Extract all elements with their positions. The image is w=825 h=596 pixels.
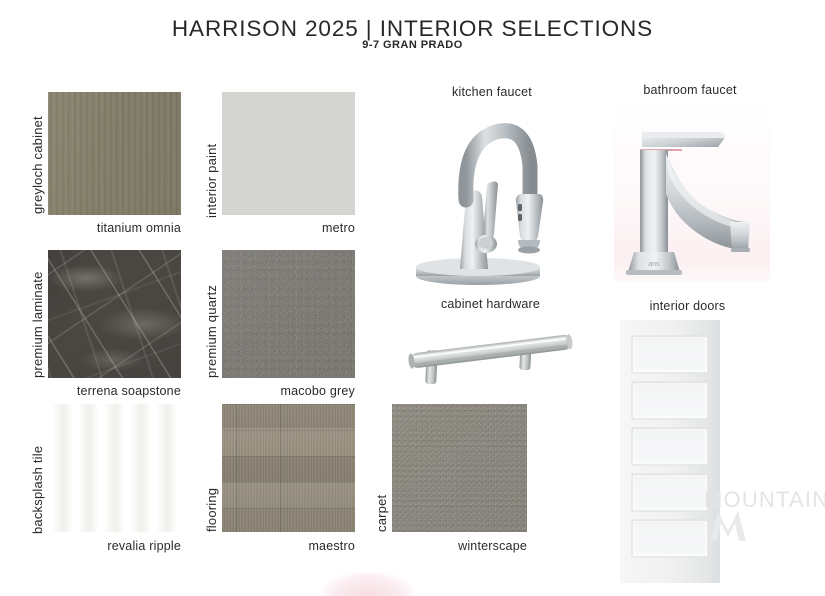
category-label-greyloch-cabinet: greyloch cabinet <box>31 104 44 214</box>
category-label-carpet: carpet <box>375 474 388 532</box>
bathroom-faucet-image[interactable]: aris <box>614 102 770 282</box>
selection-backsplash-tile[interactable]: backsplash tile revalia ripple <box>48 404 181 554</box>
bar-pull-icon <box>398 320 583 392</box>
swatch-backsplash-tile[interactable] <box>48 404 181 532</box>
product-label-backsplash-tile: revalia ripple <box>107 540 181 553</box>
product-label-premium-quartz: macobo grey <box>281 385 355 398</box>
selection-interior-paint[interactable]: interior paint metro <box>222 92 355 237</box>
cabinet-hardware-image[interactable] <box>398 320 583 392</box>
svg-text:aris: aris <box>648 261 660 268</box>
category-label-backsplash-tile: backsplash tile <box>31 414 44 534</box>
category-label-flooring: flooring <box>205 462 218 532</box>
interior-door-image[interactable] <box>620 320 720 583</box>
swatch-premium-quartz[interactable] <box>222 250 355 378</box>
bathroom-faucet-icon: aris <box>614 102 770 282</box>
fixture-label-cabinet-hardware: cabinet hardware <box>398 298 583 311</box>
selection-bathroom-faucet[interactable]: bathroom faucet <box>600 84 780 284</box>
five-panel-door-icon <box>620 320 720 583</box>
fixture-label-kitchen-faucet: kitchen faucet <box>402 86 582 99</box>
swatch-interior-paint[interactable] <box>222 92 355 215</box>
product-label-greyloch-cabinet: titanium omnia <box>97 222 181 235</box>
selection-interior-doors[interactable]: interior doors <box>600 300 775 583</box>
page-subtitle: 9-7 GRAN PRADO <box>0 39 825 51</box>
fixture-label-bathroom-faucet: bathroom faucet <box>600 84 780 97</box>
selection-premium-quartz[interactable]: premium quartz macobo grey <box>222 250 355 400</box>
kitchen-faucet-icon <box>408 104 578 289</box>
selection-flooring[interactable]: flooring maestro <box>222 404 355 554</box>
product-label-interior-paint: metro <box>322 222 355 235</box>
category-label-premium-quartz: premium quartz <box>205 262 218 378</box>
swatch-carpet[interactable] <box>392 404 527 532</box>
product-label-premium-laminate: terrena soapstone <box>77 385 181 398</box>
swatch-flooring[interactable] <box>222 404 355 532</box>
swatch-premium-laminate[interactable] <box>48 250 181 378</box>
category-label-premium-laminate: premium laminate <box>31 258 44 378</box>
selection-cabinet-hardware[interactable]: cabinet hardware <box>398 298 583 393</box>
kitchen-faucet-image[interactable] <box>408 104 578 289</box>
bottom-edge-artifact <box>322 572 414 596</box>
category-label-interior-paint: interior paint <box>205 118 218 218</box>
selection-kitchen-faucet[interactable]: kitchen faucet <box>402 86 582 291</box>
selection-greyloch-cabinet[interactable]: greyloch cabinet titanium omnia <box>48 92 181 237</box>
selection-carpet[interactable]: carpet winterscape <box>392 404 527 554</box>
product-label-carpet: winterscape <box>458 540 527 553</box>
selection-premium-laminate[interactable]: premium laminate terrena soapstone <box>48 250 181 400</box>
swatch-greyloch-cabinet[interactable] <box>48 92 181 215</box>
fixture-label-interior-doors: interior doors <box>600 300 775 313</box>
selections-board: HARRISON 2025 | INTERIOR SELECTIONS 9-7 … <box>0 0 825 583</box>
product-label-flooring: maestro <box>308 540 355 553</box>
